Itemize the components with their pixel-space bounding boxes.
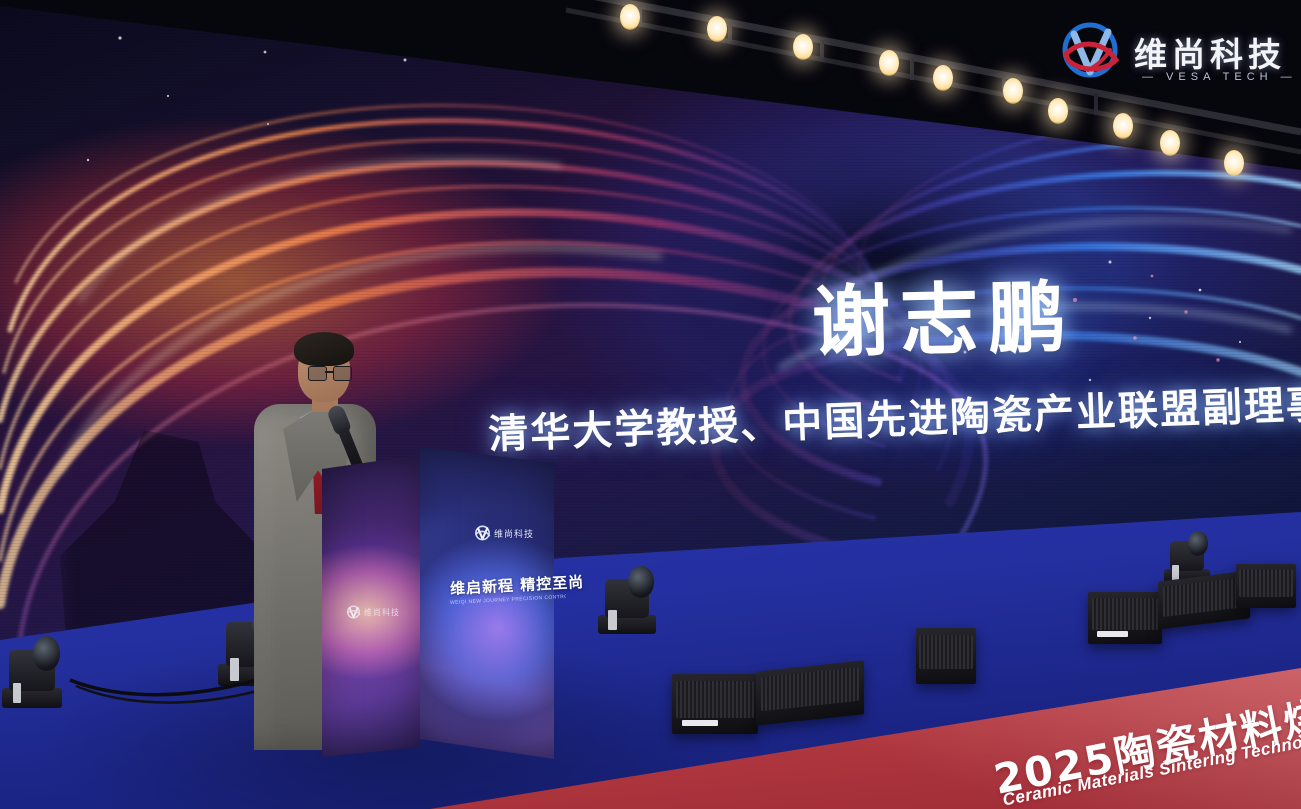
vesa-v-circle-icon <box>474 525 491 542</box>
podium-brand-name-side: 维尚科技 <box>364 607 400 618</box>
stage-monitor-speaker <box>672 674 758 734</box>
eyeglasses-icon <box>308 366 352 379</box>
stage-monitor-speaker <box>1088 592 1162 644</box>
moving-head-light <box>598 560 656 634</box>
conference-stage-photo: 谢志鹏 清华大学教授、中国先进陶瓷产业联盟副理事长 维尚科技 — VESA TE… <box>0 0 1301 809</box>
ceiling-spotlight <box>793 34 813 60</box>
ceiling-spotlight <box>1003 78 1023 104</box>
stage-monitor-speaker <box>1236 564 1296 608</box>
podium: 维尚科技 维启新程 精控至尚 WEIQI NEW JOURNEY PRECISI… <box>322 447 554 767</box>
ceiling-spotlight <box>1160 130 1180 156</box>
vesa-v-circle-icon <box>1058 20 1122 84</box>
podium-brand-logo-side: 维尚科技 <box>346 605 402 621</box>
stage-monitor-speaker <box>756 660 864 725</box>
ceiling-spotlight <box>707 16 727 42</box>
vesa-v-circle-icon <box>346 605 361 620</box>
ceiling-spotlight <box>933 65 953 91</box>
ceiling-spotlight <box>1048 98 1068 124</box>
podium-brand-logo: 维尚科技 <box>474 525 528 543</box>
ceiling-spotlight <box>1224 150 1244 176</box>
brand-name-cn: 维尚科技 <box>1134 28 1286 76</box>
brand-logo: 维尚科技 — VESA TECH — <box>1058 16 1296 96</box>
ceiling-spotlight <box>879 50 899 76</box>
brand-name-en: — VESA TECH — <box>1142 71 1297 83</box>
stage-monitor-speaker <box>916 628 976 684</box>
ceiling-spotlight <box>620 4 640 30</box>
ceiling-spotlight <box>1113 113 1133 139</box>
speaker-hair <box>294 332 354 366</box>
podium-brand-name: 维尚科技 <box>494 527 534 540</box>
screen-speaker-name: 谢志鹏 <box>811 255 1077 373</box>
